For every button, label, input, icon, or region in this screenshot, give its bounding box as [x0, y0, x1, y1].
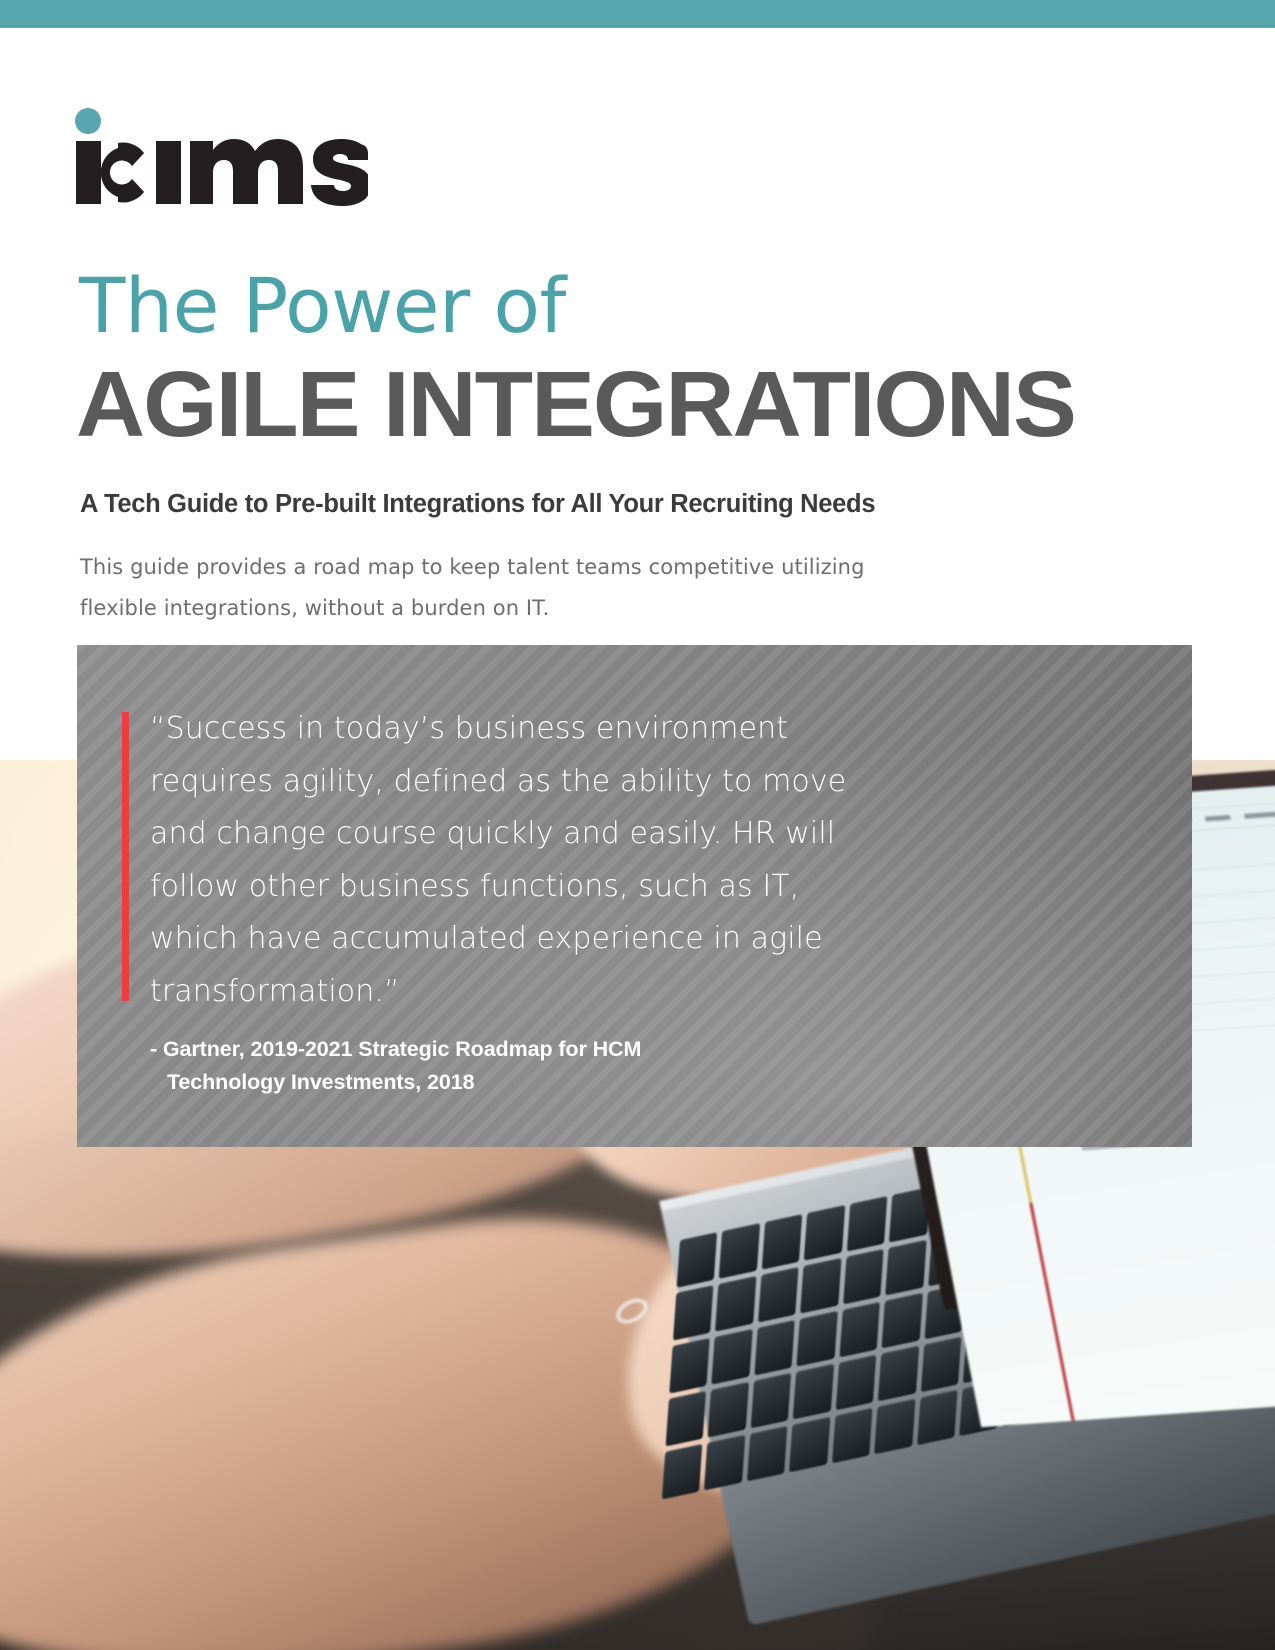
key [677, 1232, 718, 1288]
key [669, 1338, 710, 1394]
quote-text: “Success in today’s business environment… [150, 703, 850, 1018]
key [789, 1417, 830, 1473]
top-accent-bar-edge [0, 25, 1275, 28]
top-accent-bar [0, 0, 1275, 27]
logo-dot [75, 108, 101, 134]
quote-attribution: - Gartner, 2019-2021 Strategic Roadmap f… [150, 1033, 870, 1099]
attribution-line-2: Technology Investments, 2018 [150, 1066, 870, 1099]
key [797, 1311, 838, 1367]
key [921, 1337, 962, 1393]
key [719, 1223, 760, 1279]
key [800, 1258, 841, 1314]
page-subtitle: A Tech Guide to Pre-built Integrations f… [80, 489, 875, 520]
kicker-heading: The Power of [79, 268, 566, 344]
key [666, 1391, 707, 1447]
key [793, 1364, 834, 1420]
key [843, 1249, 884, 1305]
cover-page: R The Power of AGILE INTEGRATIONS A Tech… [0, 0, 1275, 1650]
intro-paragraph: This guide provides a road map to keep t… [80, 547, 910, 629]
pull-quote-panel: “Success in today’s business environment… [77, 645, 1192, 1147]
key [715, 1276, 756, 1332]
key [704, 1435, 745, 1491]
key [836, 1355, 877, 1411]
svg-text:R: R [357, 149, 363, 159]
quote-accent-rule [122, 712, 129, 1001]
key [832, 1408, 873, 1464]
key [751, 1373, 792, 1429]
key [878, 1346, 919, 1402]
key [886, 1240, 927, 1296]
key [754, 1320, 795, 1376]
key [839, 1302, 880, 1358]
key [758, 1267, 799, 1323]
attribution-line-1: - Gartner, 2019-2021 Strategic Roadmap f… [150, 1037, 641, 1061]
page-title: AGILE INTEGRATIONS [76, 358, 1075, 451]
key [662, 1444, 703, 1500]
key [712, 1329, 753, 1385]
key [673, 1285, 714, 1341]
key [847, 1196, 888, 1252]
key [762, 1214, 803, 1270]
key [804, 1205, 845, 1261]
key [874, 1399, 915, 1455]
key [708, 1382, 749, 1438]
key [747, 1426, 788, 1482]
key [917, 1389, 958, 1445]
icims-logo: R [68, 108, 368, 208]
key [882, 1293, 923, 1349]
icims-logo-mark: R [68, 108, 368, 208]
